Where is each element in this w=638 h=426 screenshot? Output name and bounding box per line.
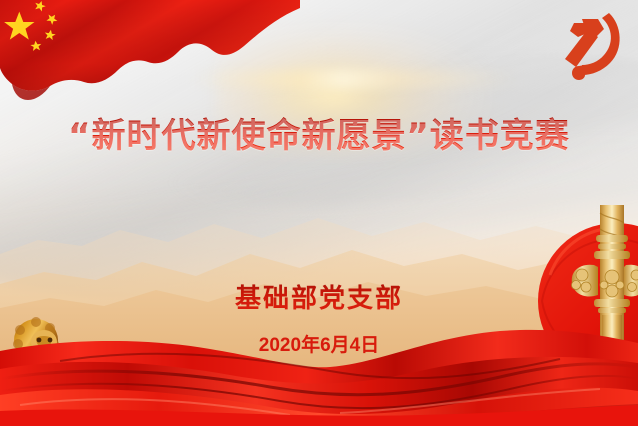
page-title: “新时代新使命新愿景”读书竞赛 (0, 114, 638, 158)
party-emblem-hammer-sickle-icon (552, 5, 628, 83)
chinese-national-flag (0, 0, 300, 105)
organization-subtitle: 基础部党支部 (0, 278, 638, 315)
date-label: 2020年6月4日 (0, 330, 638, 357)
presentation-slide: “新时代新使命新愿景”读书竞赛 基础部党支部 2020年6月4日 (0, 0, 638, 426)
